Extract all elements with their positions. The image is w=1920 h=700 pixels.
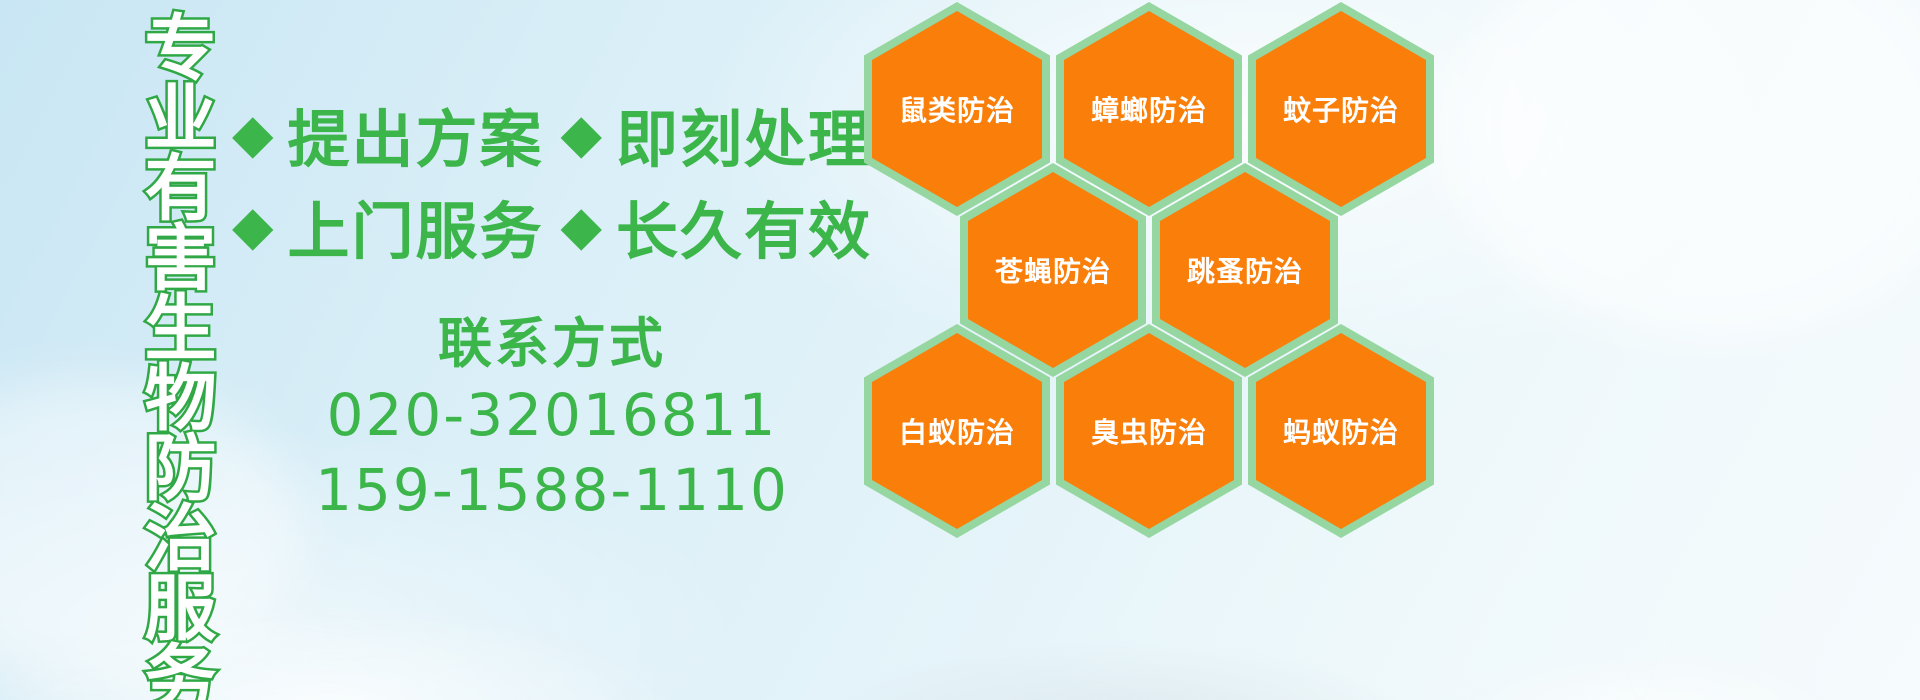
background-blob-right bbox=[1450, 0, 1920, 340]
contact-title: 联系方式 bbox=[232, 310, 872, 378]
vertical-title: 专业有害生物防治服务 bbox=[108, 10, 212, 570]
contact-block: 联系方式 020-32016811 159-1588-1110 bbox=[232, 310, 872, 528]
slogan-row: ◆ 提出方案 ◆ 即刻处理 bbox=[232, 88, 872, 180]
hex-inner: 蚂蚁防治 bbox=[1256, 333, 1426, 529]
hex-inner: 跳蚤防治 bbox=[1160, 172, 1330, 368]
slogan-row: ◆ 上门服务 ◆ 长久有效 bbox=[232, 180, 872, 272]
promo-banner: 专业有害生物防治服务 ◆ 提出方案 ◆ 即刻处理 ◆ 上门服务 ◆ 长久有效 联… bbox=[0, 0, 1920, 700]
diamond-bullet-icon: ◆ bbox=[560, 107, 602, 161]
hex-inner: 白蚁防治 bbox=[872, 333, 1042, 529]
hex-inner: 蚊子防治 bbox=[1256, 11, 1426, 207]
hex-label: 白蚁防治 bbox=[899, 411, 1015, 451]
hex-label: 蟑螂防治 bbox=[1091, 89, 1207, 129]
hex-label: 鼠类防治 bbox=[899, 89, 1015, 129]
hex-inner: 蟑螂防治 bbox=[1064, 11, 1234, 207]
diamond-bullet-icon: ◆ bbox=[560, 199, 602, 253]
hex-label: 蚂蚁防治 bbox=[1283, 411, 1399, 451]
hex-inner: 苍蝇防治 bbox=[968, 172, 1138, 368]
slogan-block: ◆ 提出方案 ◆ 即刻处理 ◆ 上门服务 ◆ 长久有效 bbox=[232, 88, 872, 272]
hex-label: 跳蚤防治 bbox=[1187, 250, 1303, 290]
service-honeycomb: 鼠类防治 蟑螂防治 蚊子防治 苍蝇防治 跳蚤防治 白蚁防治 bbox=[858, 0, 1458, 574]
diamond-bullet-icon: ◆ bbox=[232, 199, 274, 253]
hex-label: 臭虫防治 bbox=[1091, 411, 1207, 451]
diamond-bullet-icon: ◆ bbox=[232, 107, 274, 161]
contact-phone-landline[interactable]: 020-32016811 bbox=[232, 378, 872, 453]
hex-label: 蚊子防治 bbox=[1283, 89, 1399, 129]
slogan-item-long-lasting: 长久有效 bbox=[616, 181, 872, 271]
contact-phone-mobile[interactable]: 159-1588-1110 bbox=[232, 453, 872, 528]
slogan-item-immediate-handling: 即刻处理 bbox=[616, 89, 872, 179]
hex-label: 苍蝇防治 bbox=[995, 250, 1111, 290]
slogan-item-propose-plan: 提出方案 bbox=[288, 89, 544, 179]
slogan-item-onsite-service: 上门服务 bbox=[288, 181, 544, 271]
hex-inner: 臭虫防治 bbox=[1064, 333, 1234, 529]
hex-inner: 鼠类防治 bbox=[872, 11, 1042, 207]
